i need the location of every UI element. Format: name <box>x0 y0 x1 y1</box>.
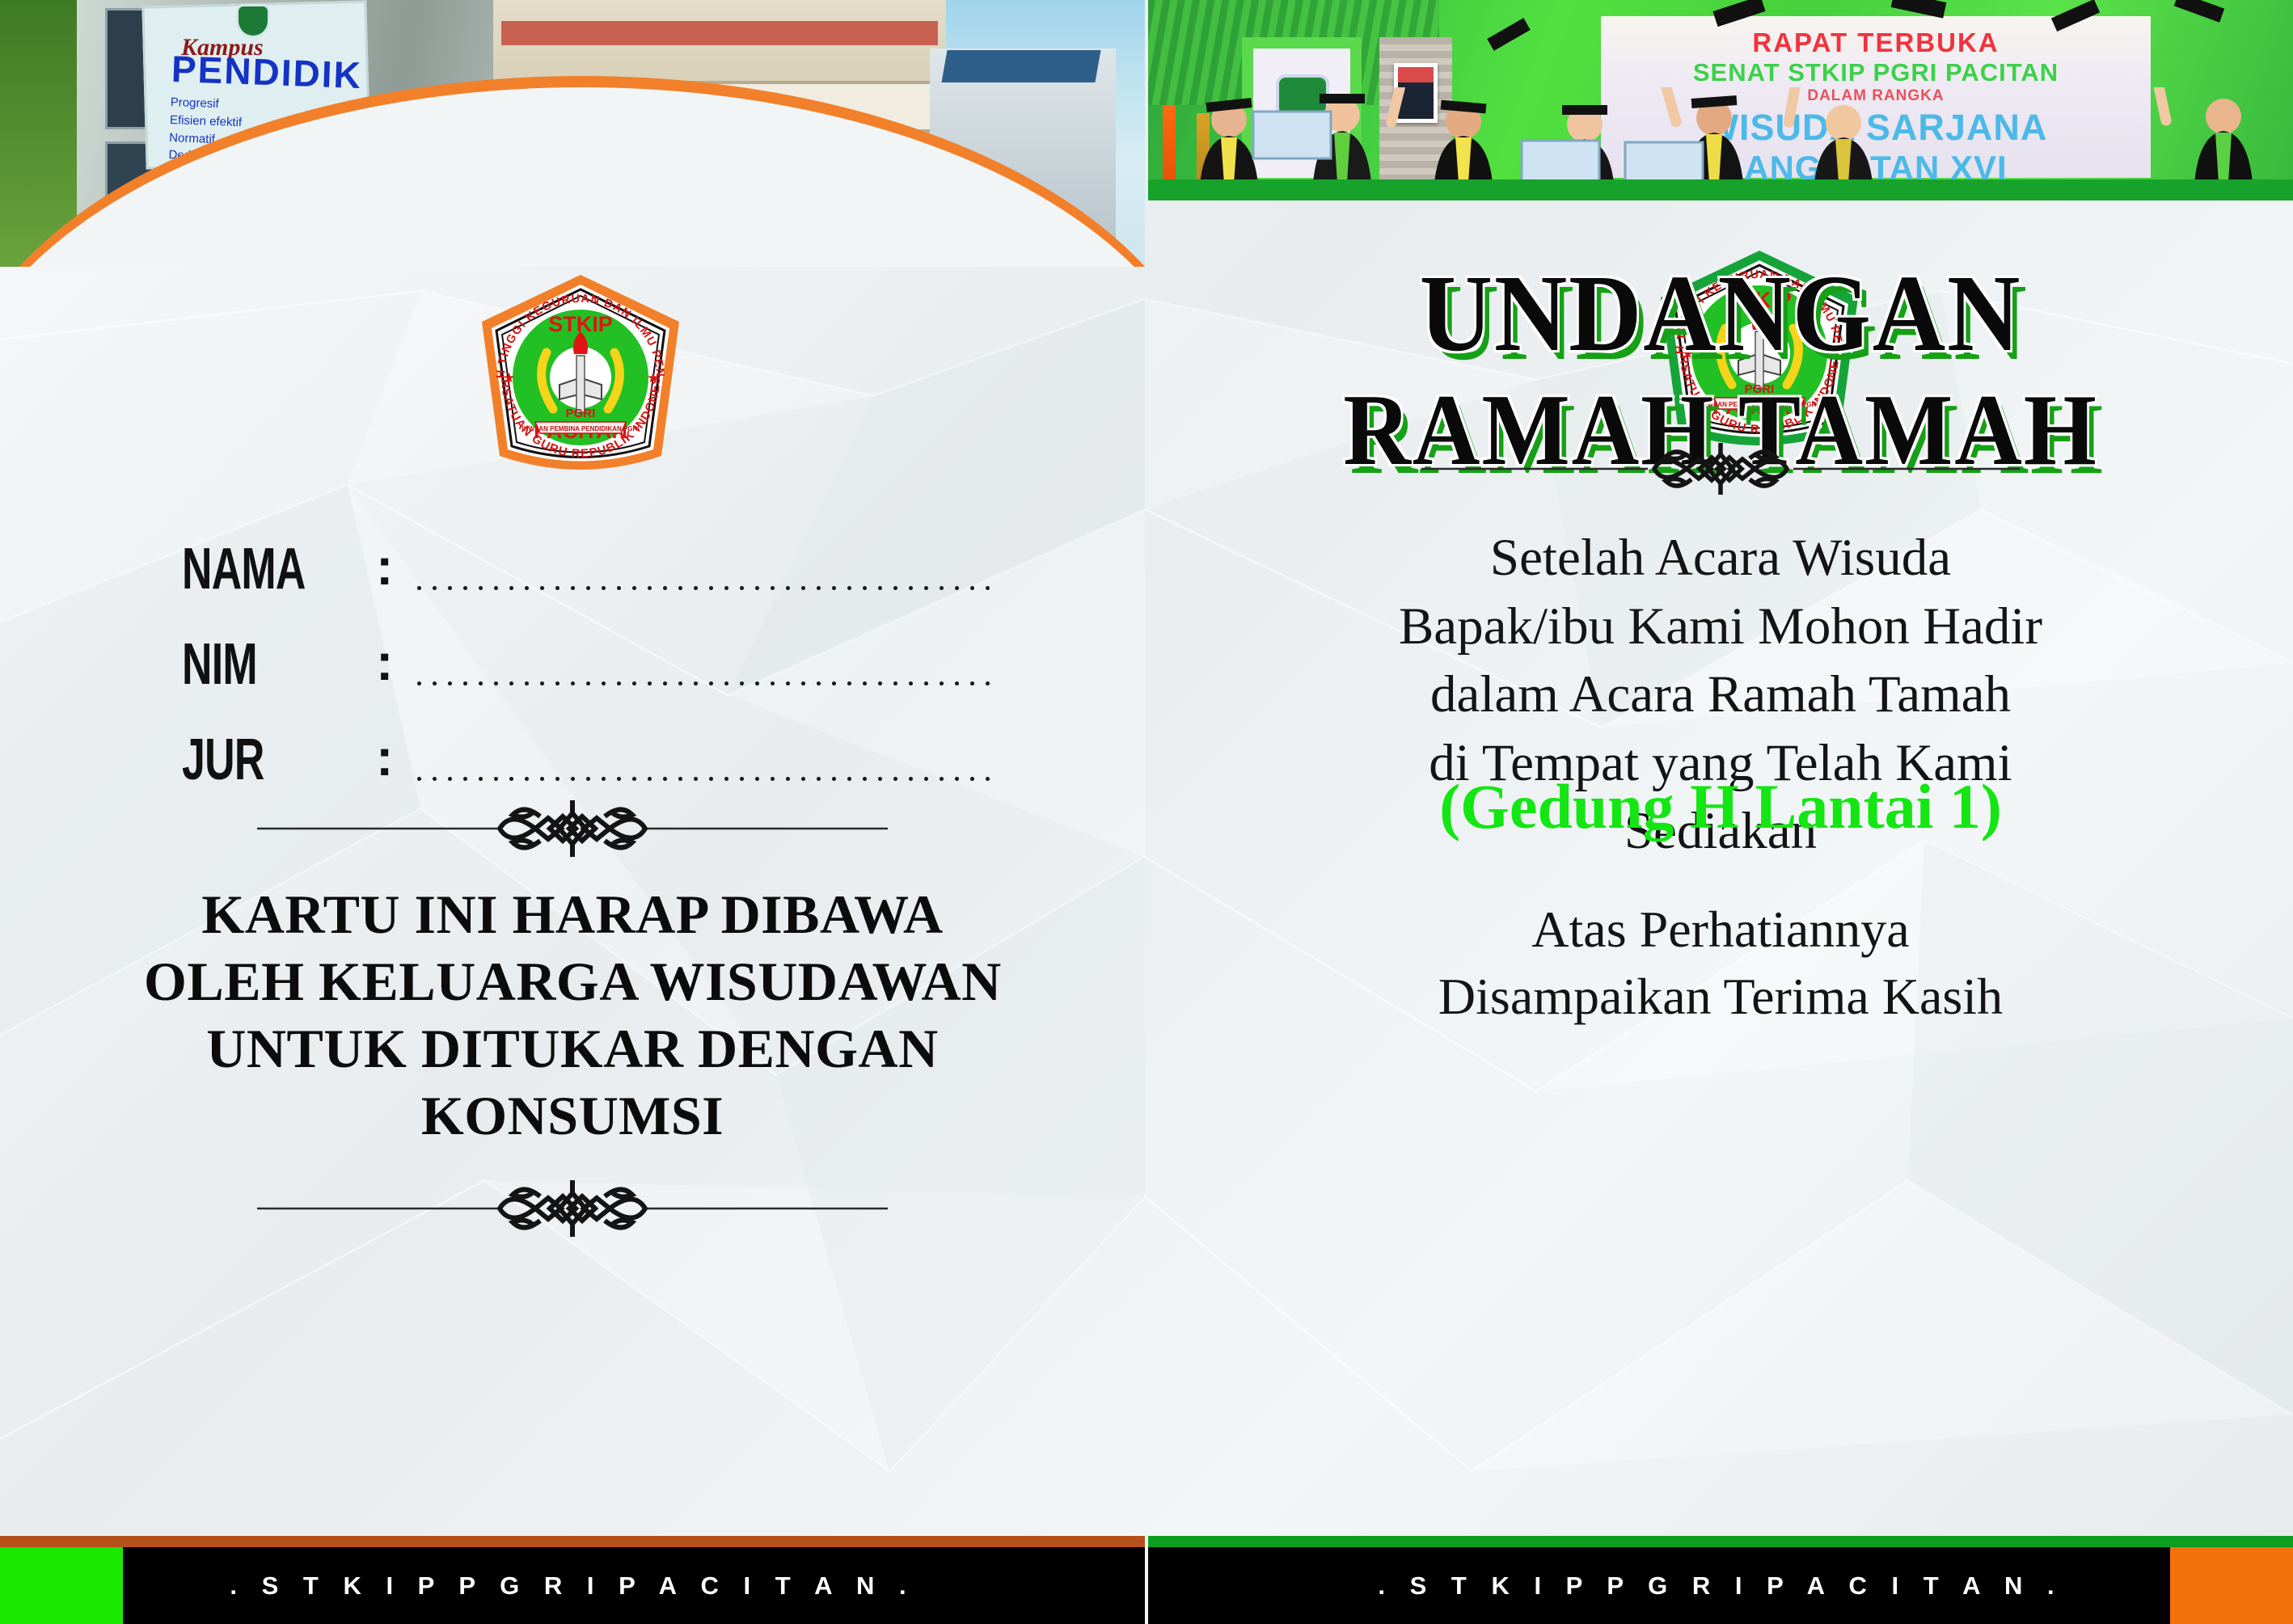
graduation-ceremony-photo: RAPAT TERBUKA SENAT STKIP PGRI PACITAN D… <box>1148 0 2293 200</box>
notice-line: OLEH KELUARGA WISUDAWAN <box>144 948 1001 1015</box>
notice-line: KONSUMSI <box>144 1082 1001 1149</box>
notice-line: UNTUK DITUKAR DENGAN <box>144 1015 1001 1082</box>
footer-rule-green <box>1148 1536 2293 1547</box>
field-colon: : <box>376 537 412 597</box>
ornament-divider-top <box>257 792 888 865</box>
body-line: dalam Acara Ramah Tamah <box>1268 660 2173 729</box>
field-colon: : <box>376 632 412 692</box>
body-line: Setelah Acara Wisuda <box>1268 524 2173 593</box>
right-panel: UNDANGAN RAMAH TAMAH <box>1148 200 2293 1536</box>
graduates-row <box>1148 87 2293 183</box>
footer-left-text: . S T K I P P G R I P A C I T A N . <box>0 1547 1145 1624</box>
field-label: NIM <box>182 637 374 692</box>
stage-banner-line: RAPAT TERBUKA <box>1606 27 2146 58</box>
ornament-divider-bottom <box>257 1172 888 1245</box>
footer-right-text: . S T K I P P G R I P A C I T A N . <box>1148 1547 2293 1624</box>
title-line-1: UNDANGAN <box>1194 259 2248 369</box>
campus-building-photo: Kampus PENDIDIK Progresif Efisien efekti… <box>0 0 1145 267</box>
sign-logo <box>239 6 268 36</box>
notice-line: KARTU INI HARAP DIBAWA <box>144 881 1001 948</box>
venue-text: (Gedung H Lantai 1) <box>1235 770 2206 843</box>
student-fields: NAMA : NIM : JUR : <box>182 501 990 787</box>
field-row-nama: NAMA : <box>182 501 990 597</box>
footer-rule-orange <box>0 1536 1145 1547</box>
field-label: JUR <box>182 732 374 787</box>
notice-block: KARTU INI HARAP DIBAWA OLEH KELUARGA WIS… <box>144 881 1001 1149</box>
ornament-divider-title <box>1421 437 2020 501</box>
sign-headline: PENDIDIK <box>171 47 363 97</box>
nim-input[interactable] <box>412 655 990 692</box>
thanks-line: Atas Perhatiannya <box>1268 896 2173 963</box>
thanks-block: Atas Perhatiannya Disampaikan Terima Kas… <box>1268 896 2173 1030</box>
footer-right: . S T K I P P G R I P A C I T A N . <box>1148 1536 2293 1624</box>
field-colon: : <box>376 728 412 787</box>
field-row-nim: NIM : <box>182 597 990 692</box>
footer-left: . S T K I P P G R I P A C I T A N . <box>0 1536 1145 1624</box>
jur-input[interactable] <box>412 750 990 787</box>
invitation-card: Kampus PENDIDIK Progresif Efisien efekti… <box>0 0 2293 1624</box>
left-panel: NAMA : NIM : JUR : <box>0 267 1145 1536</box>
footer: . S T K I P P G R I P A C I T A N . . S … <box>0 1536 2293 1624</box>
field-row-jur: JUR : <box>182 692 990 787</box>
thanks-line: Disampaikan Terima Kasih <box>1268 963 2173 1030</box>
body-line: Bapak/ibu Kami Mohon Hadir <box>1268 593 2173 661</box>
stage-banner-line: SENAT STKIP PGRI PACITAN <box>1606 58 2146 87</box>
field-label: NAMA <box>182 542 374 597</box>
nama-input[interactable] <box>412 559 990 597</box>
